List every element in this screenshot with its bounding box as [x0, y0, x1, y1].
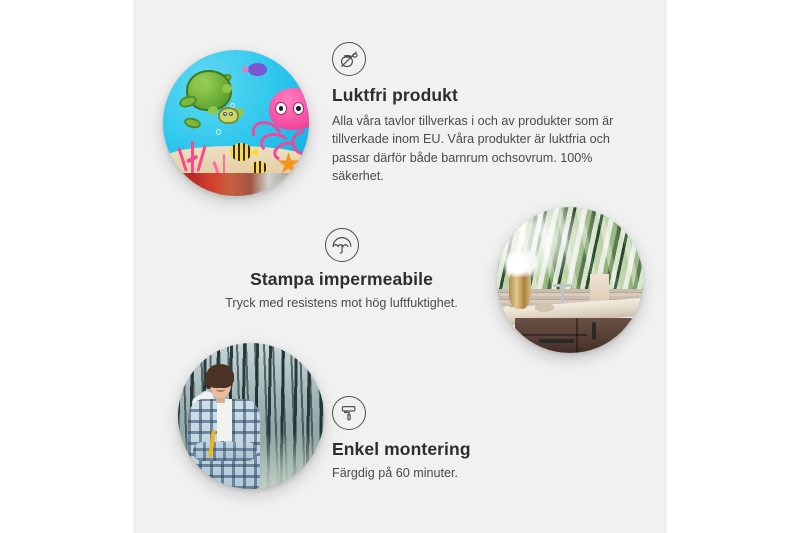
bubble-icon — [216, 129, 222, 135]
painter-figure — [187, 366, 263, 489]
feature-body: Alla våra tavlor tillverkas i och av pro… — [332, 112, 622, 186]
feature-title: Stampa impermeabile — [215, 269, 468, 291]
coral-icon — [175, 132, 213, 176]
feature-body: Färgdig på 60 minuter. — [332, 464, 562, 483]
octopus-icon — [251, 88, 309, 161]
photo-bathroom — [497, 207, 643, 353]
ocean-scene — [163, 50, 309, 196]
flowers — [503, 251, 538, 277]
umbrella-icon — [325, 228, 359, 262]
feature-title: Enkel montering — [332, 439, 562, 461]
feature-waterproof: Stampa impermeabile Tryck med resistens … — [215, 228, 468, 312]
feature-body: Tryck med resistens mot hög luftfuktighe… — [215, 294, 468, 313]
faucet-icon — [561, 287, 564, 305]
fish-icon — [248, 63, 267, 76]
photo-ocean — [163, 50, 309, 196]
ocean-foreground-strip — [163, 173, 309, 196]
feature-odor-free: Luktfri produkt Alla våra tavlor tillver… — [332, 42, 622, 186]
turtle-icon — [179, 70, 240, 125]
paint-roller-icon — [332, 396, 366, 430]
vanity-cabinet — [515, 318, 643, 353]
photo-forest-painter — [178, 343, 324, 489]
feature-easy-mounting: Enkel montering Färgdig på 60 minuter. — [332, 396, 562, 482]
fish-icon — [230, 143, 252, 161]
no-fragrance-spray-icon — [332, 42, 366, 76]
feature-title: Luktfri produkt — [332, 85, 622, 107]
forest-scene — [178, 343, 324, 489]
promo-banner: Luktfri produkt Alla våra tavlor tillver… — [0, 0, 800, 533]
bathroom-scene — [497, 207, 643, 353]
